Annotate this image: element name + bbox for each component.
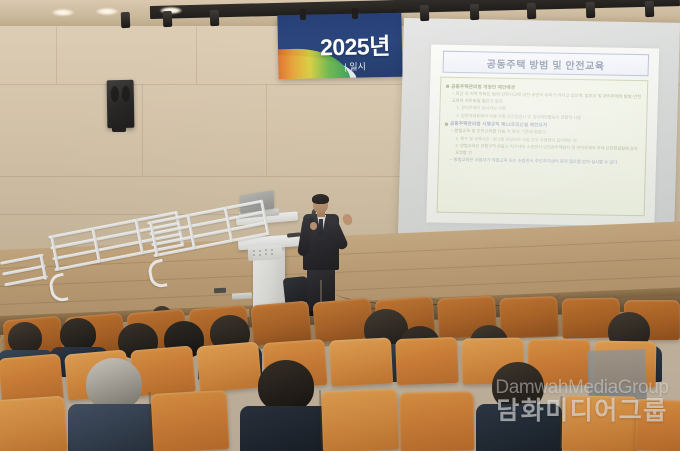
wall-seam: [0, 176, 420, 177]
projection-screen-surface: 공동주택 방범 및 안전교육 공동주택관리법 개정안 제안배경 – 최근 각 지…: [398, 18, 680, 251]
auditorium-seat: [635, 399, 680, 451]
wall-seam: [56, 24, 57, 84]
spotlight-icon: [420, 5, 430, 21]
presenter-glasses: [313, 202, 328, 206]
spotlight-icon: [470, 4, 480, 20]
bullet-square-icon: [445, 122, 448, 125]
banner-hook: [300, 9, 306, 20]
wall-seam: [196, 24, 197, 84]
spotlight-icon: [121, 12, 131, 28]
floor-equipment-box: [214, 288, 226, 294]
ceiling-downlight-icon: [96, 8, 118, 15]
wall-seam: [266, 84, 267, 176]
spotlight-icon: [645, 1, 655, 17]
floor-equipment-box: [232, 292, 252, 299]
banner-hook: [352, 8, 358, 19]
auditorium-seat: [499, 296, 558, 338]
spotlight-icon: [210, 10, 220, 26]
wall-speaker: [107, 80, 135, 128]
auditorium-seat: [321, 389, 399, 451]
auditorium-seat: [395, 337, 459, 385]
banner-year-text: 2025년: [320, 27, 391, 62]
slide-title-box: 공동주택 방범 및 안전교육: [442, 51, 649, 77]
presenter-tie: [319, 219, 323, 235]
ceiling-downlight-icon: [52, 9, 74, 16]
auditorium-seat: [562, 395, 639, 451]
auditorium-seat: [0, 396, 68, 451]
auditorium-seat: [329, 337, 393, 386]
event-banner: 2025년 | 일시: [277, 13, 402, 80]
presentation-slide: 공동주택 방범 및 안전교육 공동주택관리법 개정안 제안배경 – 최근 각 지…: [426, 44, 659, 226]
presenter-left-hand: [310, 222, 317, 230]
spotlight-icon: [586, 2, 596, 18]
auditorium-photo: 2025년 | 일시 공동주택 방범 및 안전교육 공동주택관리법 개정안 제안…: [0, 0, 680, 451]
spotlight-icon: [527, 3, 537, 19]
speaker-mount: [112, 126, 126, 132]
auditorium-seat: [250, 301, 311, 346]
slide-body: 공동주택관리법 개정안 제안배경 – 최근 각 지역 아파트 범죄·안전사고에 …: [437, 77, 649, 217]
aisle-carpet: [587, 349, 647, 401]
slide-title: 공동주택 방범 및 안전교육: [487, 55, 605, 72]
spotlight-icon: [163, 11, 173, 27]
auditorium-seat: [196, 341, 262, 392]
auditorium-seat: [399, 391, 474, 451]
slide-section-footer: – 방범교육은 사업자가 직접교육 또는 소방관서·주민자치센터 등의 협조를 …: [450, 157, 640, 167]
wall-seam: [142, 84, 143, 176]
auditorium-seat: [151, 390, 230, 451]
bullet-square-icon: [446, 85, 449, 88]
banner-subtitle-text: | 일시: [344, 59, 366, 72]
